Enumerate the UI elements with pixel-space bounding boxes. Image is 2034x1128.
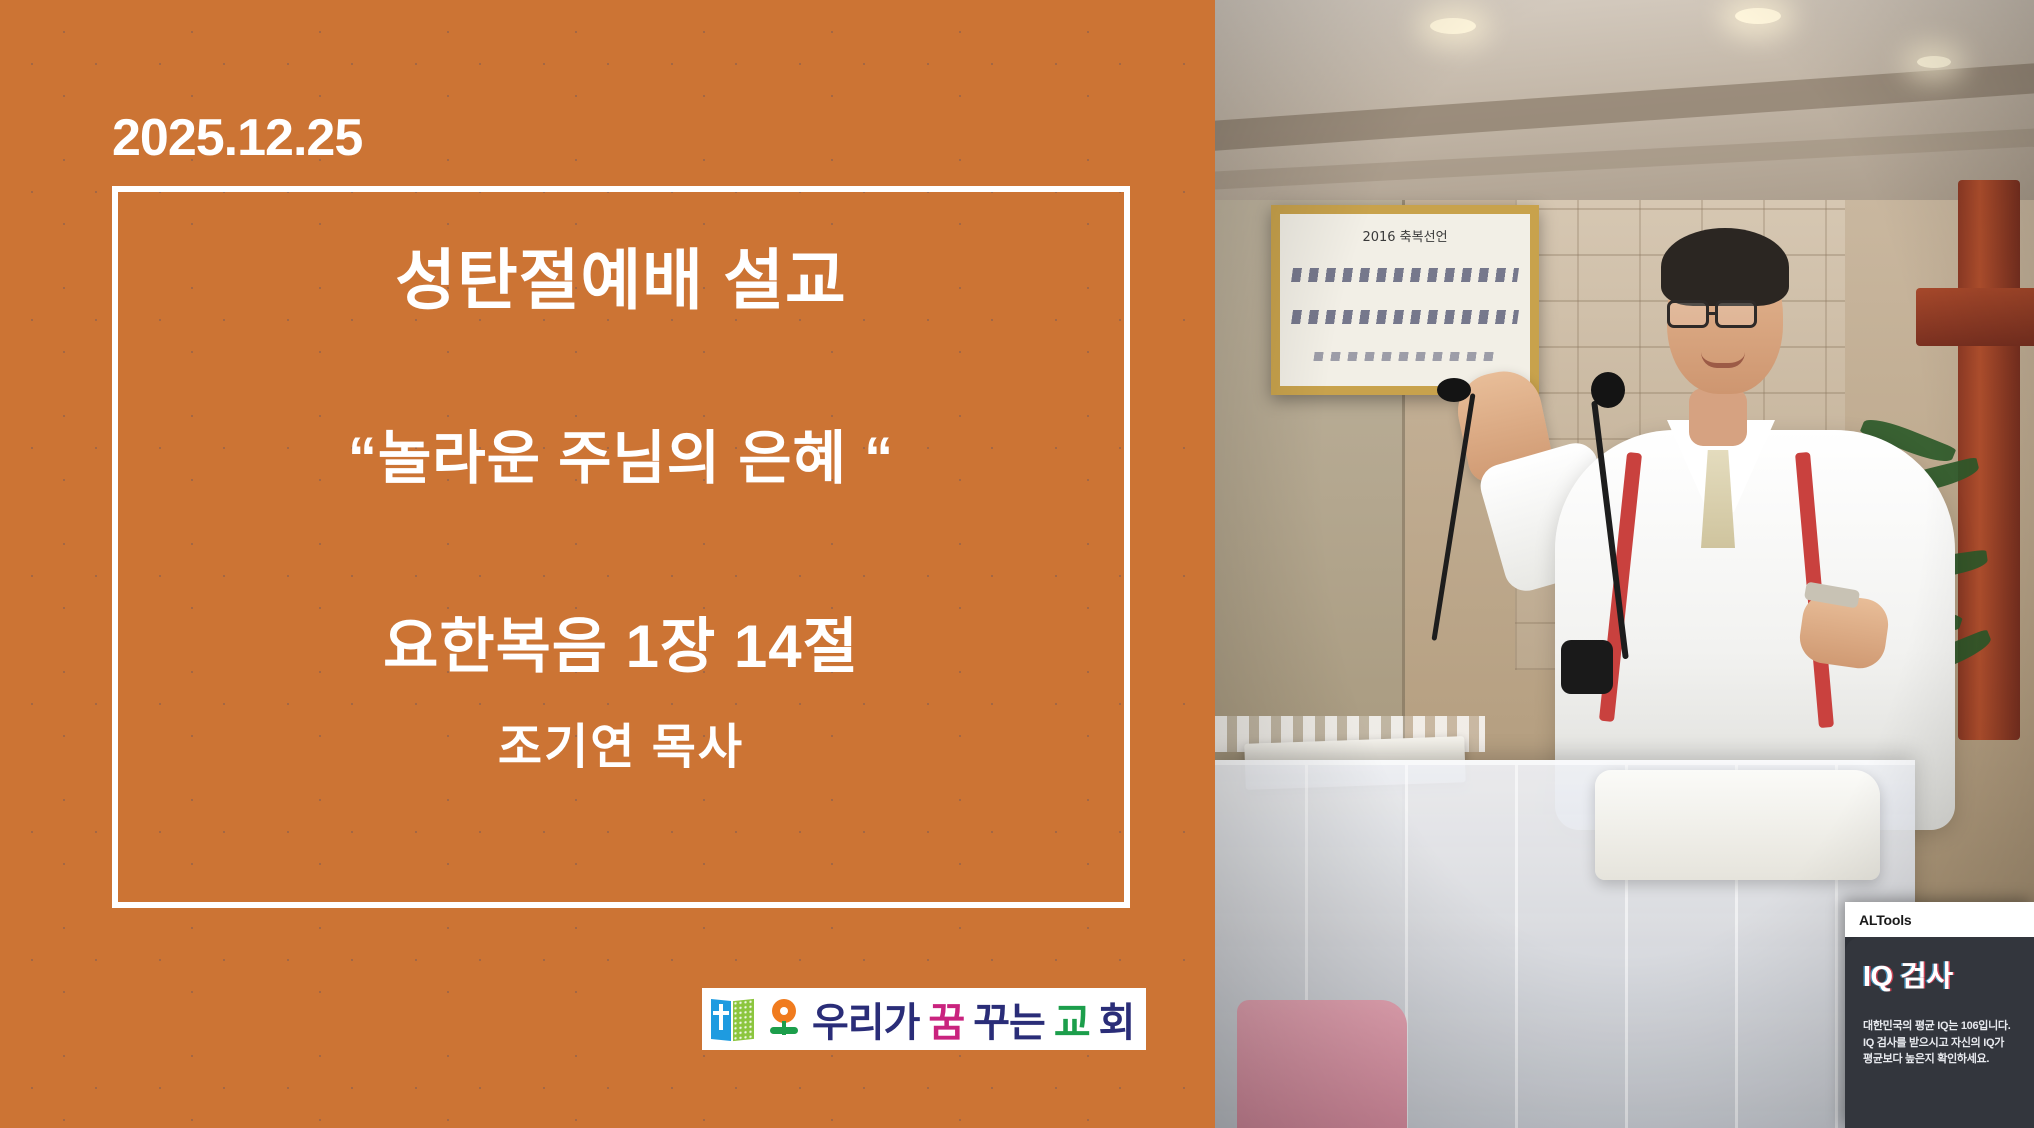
logo-word-3: 꾸는 [973,990,1045,1048]
microphone-icon [1591,372,1625,408]
sermon-title: 성탄절예배 설교 [395,244,846,317]
open-book-cross-icon [710,996,756,1042]
church-logo-text: 우리가 꿈 꾸는 교 회 [812,990,1134,1048]
framed-banner-title: 2016 축복선언 [1280,226,1530,245]
logo-word-4: 교 [1054,990,1090,1048]
logo-word-2: 꿈 [928,990,964,1048]
pink-drape [1237,1000,1407,1128]
neck [1689,388,1747,446]
flower-icon [766,997,802,1041]
glasses-icon [1715,300,1757,328]
service-date: 2025.12.25 [112,108,362,168]
logo-word-1: 우리가 [812,990,919,1048]
altools-ad-description: 대한민국의 평균 IQ는 106입니다. IQ 검사를 받으시고 자신의 IQ가… [1863,1018,2034,1068]
ceiling-light-icon [1735,8,1781,24]
ceiling-light-icon [1917,56,1951,68]
altools-ad-popup[interactable]: ALTools IQ 검사 대한민국의 평균 IQ는 106입니다. IQ 검사… [1845,902,2034,1128]
sermon-preacher-name: 조기연 목사 [498,722,744,775]
ceiling-light-icon [1430,18,1476,34]
hair [1661,228,1789,306]
framed-banner: 2016 축복선언 [1271,205,1539,395]
microphone-base [1561,640,1613,694]
altools-ad-content[interactable]: IQ 검사 대한민국의 평균 IQ는 106입니다. IQ 검사를 받으시고 자… [1845,937,2034,1128]
glasses-icon [1667,300,1709,328]
microphone-icon [1437,378,1471,402]
sermon-info-panel: 2025.12.25 성탄절예배 설교 “놀라운 주님의 은혜 “ 요한복음 1… [0,0,1215,1128]
glasses-bridge [1709,312,1717,315]
sermon-scripture-reference: 요한복음 1장 14절 [383,614,859,680]
altools-titlebar[interactable]: ALTools [1845,902,2034,937]
logo-word-5: 회 [1099,990,1135,1048]
sermon-text-block: 성탄절예배 설교 “놀라운 주님의 은혜 “ 요한복음 1장 14절 조기연 목… [112,186,1130,908]
sermon-topic: “놀라운 주님의 은혜 “ [348,427,894,491]
altools-window-title: ALTools [1859,912,1912,928]
pulpit-cloth [1595,770,1880,880]
slide-screenshot: 2025.12.25 성탄절예배 설교 “놀라운 주님의 은혜 “ 요한복음 1… [0,0,2034,1128]
altools-ad-headline: IQ 검사 [1863,963,2034,992]
church-logo: 우리가 꿈 꾸는 교 회 [702,988,1146,1050]
